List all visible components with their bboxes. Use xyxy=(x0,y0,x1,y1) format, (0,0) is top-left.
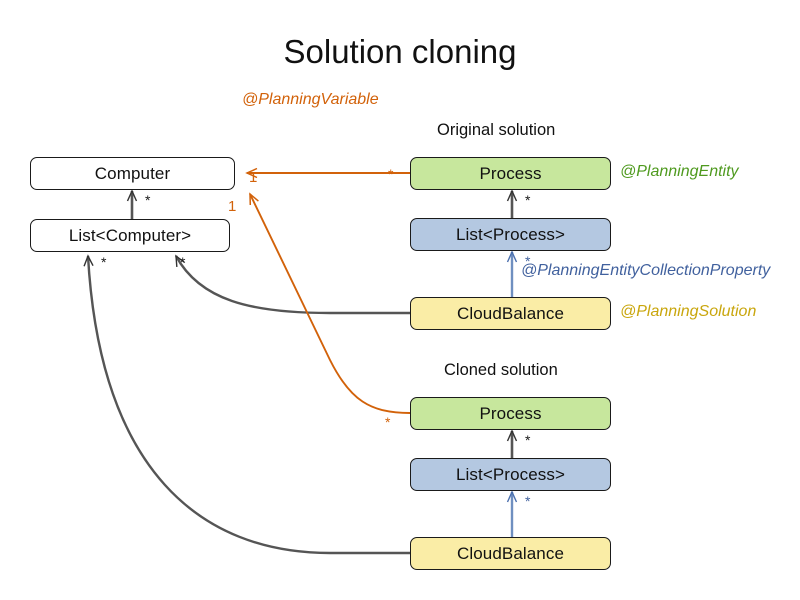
box-computer[interactable]: Computer xyxy=(30,157,235,190)
connector-layer xyxy=(0,0,800,600)
box-process-cloned[interactable]: Process xyxy=(410,397,611,430)
multiplicity-process-list-cloned: * xyxy=(525,432,530,448)
box-cloudbalance-original[interactable]: CloudBalance xyxy=(410,297,611,330)
box-cloudbalance-cloned[interactable]: CloudBalance xyxy=(410,537,611,570)
box-process-original[interactable]: Process xyxy=(410,157,611,190)
edge-cloudbalance-cloned-to-listcomputer xyxy=(88,256,410,553)
box-list-process-cloned[interactable]: List<Process> xyxy=(410,458,611,491)
annotation-planning-solution: @PlanningSolution xyxy=(620,303,756,321)
multiplicity-computer-list: * xyxy=(145,192,150,208)
section-title-cloned: Cloned solution xyxy=(444,361,558,380)
multiplicity-variable-star-original: * xyxy=(388,166,393,182)
page-title: Solution cloning xyxy=(0,33,800,71)
multiplicity-listcomputer-right: * xyxy=(180,254,185,270)
multiplicity-list-cloud-original: * xyxy=(525,253,530,269)
multiplicity-process-list-original: * xyxy=(525,192,530,208)
multiplicity-variable-star-cloned: * xyxy=(385,414,390,430)
multiplicity-variable-one-top: 1 xyxy=(249,169,257,186)
edge-process-cloned-to-computer xyxy=(250,194,410,413)
box-list-computer[interactable]: List<Computer> xyxy=(30,219,230,252)
multiplicity-variable-one-bottom: 1 xyxy=(228,198,236,215)
annotation-planning-entity-collection-property: @PlanningEntityCollectionProperty xyxy=(521,262,770,280)
section-title-original: Original solution xyxy=(437,121,555,140)
multiplicity-list-cloud-cloned: * xyxy=(525,493,530,509)
multiplicity-listcomputer-left: * xyxy=(101,254,106,270)
diagram-canvas: Solution cloning @PlanningVariable Origi… xyxy=(0,0,800,600)
annotation-planning-variable: @PlanningVariable xyxy=(242,91,379,109)
annotation-planning-entity: @PlanningEntity xyxy=(620,163,739,181)
box-list-process-original[interactable]: List<Process> xyxy=(410,218,611,251)
